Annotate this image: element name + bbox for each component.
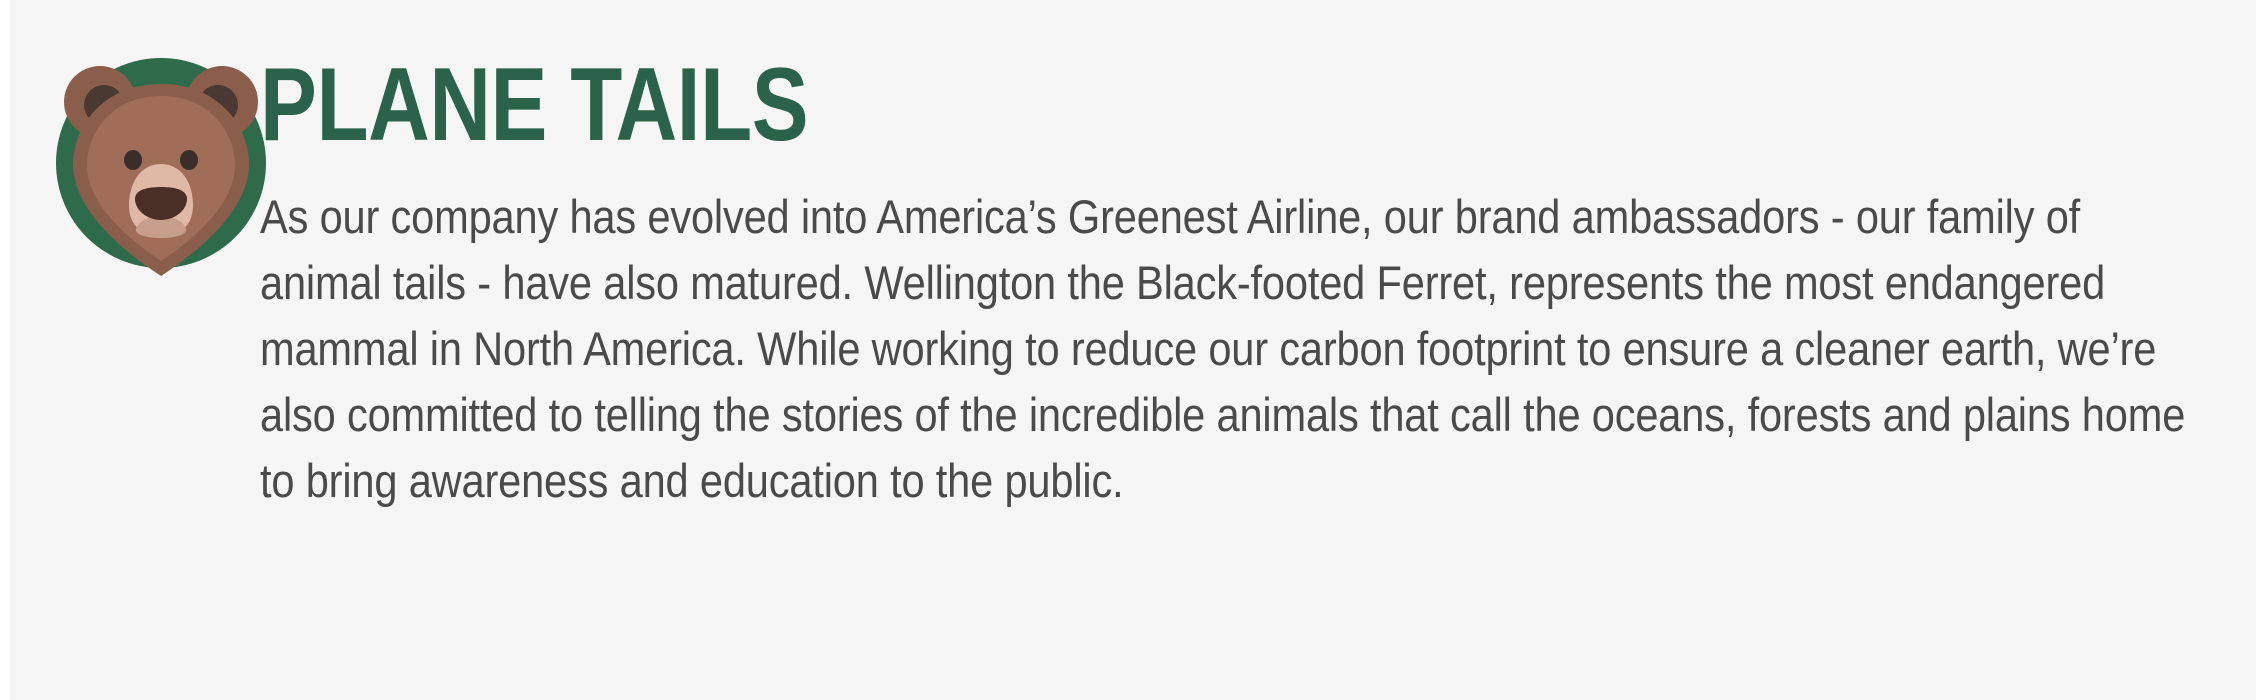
page-root: PLANE TAILS As our company has evolved i…	[0, 0, 2256, 700]
avatar	[10, 0, 260, 288]
plane-tails-section: PLANE TAILS As our company has evolved i…	[10, 0, 2256, 700]
page-title: PLANE TAILS	[260, 52, 1897, 158]
section-body-text: As our company has evolved into America’…	[260, 184, 2189, 514]
bear-avatar-icon	[36, 38, 286, 288]
section-content: PLANE TAILS As our company has evolved i…	[260, 0, 2256, 514]
